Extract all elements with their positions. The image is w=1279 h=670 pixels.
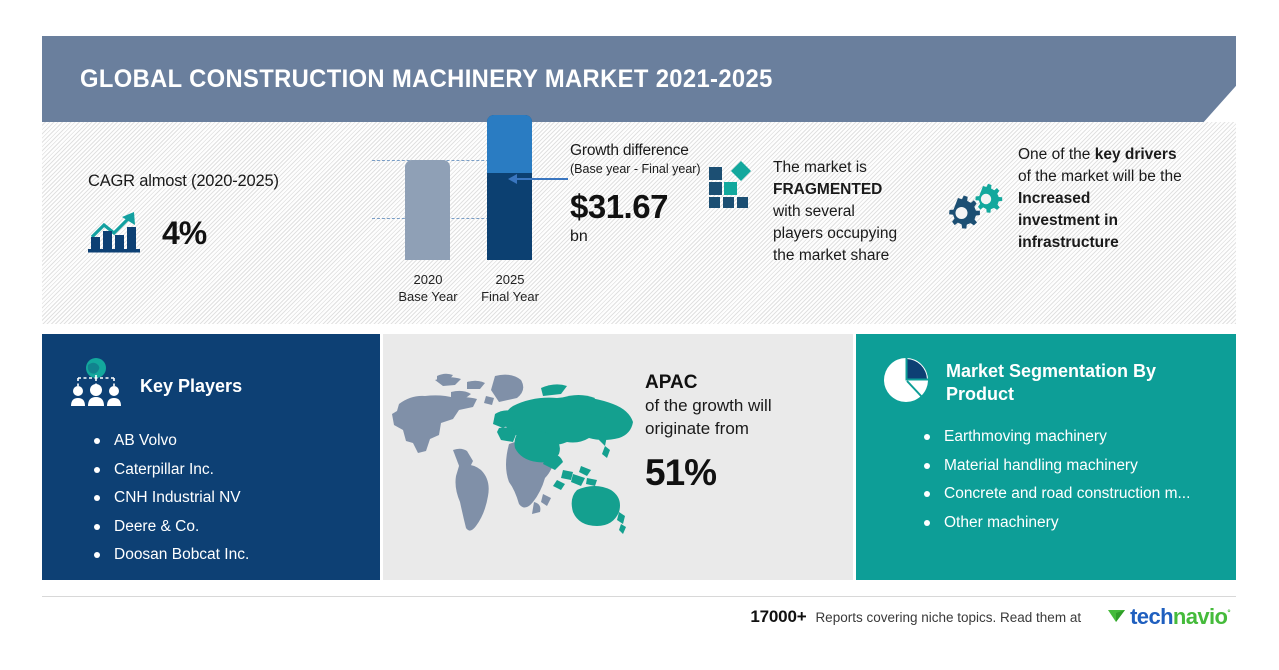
list-item: Concrete and road construction m... xyxy=(924,486,1236,502)
drivers-line-2: of the market will be the xyxy=(1018,166,1182,188)
key-drivers-text: One of the key drivers of the market wil… xyxy=(1018,144,1182,254)
bar-2025-caption: 2025 Final Year xyxy=(465,271,555,306)
drivers-line-4: investment in xyxy=(1018,212,1118,229)
segmentation-panel: Market Segmentation By Product Earthmovi… xyxy=(856,334,1236,580)
footer: 17000+ Reports covering niche topics. Re… xyxy=(42,597,1236,637)
bar-2025-role: Final Year xyxy=(465,288,555,306)
infographic-canvas: GLOBAL CONSTRUCTION MACHINERY MARKET 202… xyxy=(0,0,1279,670)
bar-2025-year: 2025 xyxy=(465,271,555,289)
fragmented-line-5: the market share xyxy=(773,245,897,267)
drivers-line-1: One of the xyxy=(1018,146,1095,163)
region-subtitle-line-2: originate from xyxy=(645,418,772,440)
bar-2020-role: Base Year xyxy=(383,288,473,306)
cagr-block: CAGR almost (2020-2025) 4% xyxy=(88,172,368,258)
key-players-title: Key Players xyxy=(140,375,242,398)
bar-chart-growth-icon xyxy=(88,209,142,258)
logo-text-navio: navio xyxy=(1173,604,1227,629)
page-title: GLOBAL CONSTRUCTION MACHINERY MARKET 202… xyxy=(42,65,773,94)
list-item: Material handling machinery xyxy=(924,458,1236,474)
cagr-value: 4% xyxy=(162,215,206,252)
drivers-line-1-bold: key drivers xyxy=(1095,146,1177,163)
key-players-header: Key Players xyxy=(42,334,380,417)
pie-chart-icon xyxy=(882,356,930,409)
list-item: CNH Industrial NV xyxy=(94,490,380,506)
gears-icon xyxy=(942,180,1004,237)
reports-count: 17000+ xyxy=(750,607,806,627)
bar-2020 xyxy=(405,160,450,260)
bar-2020-caption: 2020 Base Year xyxy=(383,271,473,306)
fragmented-line-3: with several xyxy=(773,201,897,223)
callout-arrow-icon xyxy=(508,174,568,184)
key-drivers-block: One of the key drivers of the market wil… xyxy=(942,144,1182,254)
globe-org-chart-icon xyxy=(68,356,124,417)
drivers-line-3: Increased xyxy=(1018,190,1090,207)
segmentation-list: Earthmoving machinery Material handling … xyxy=(924,429,1236,530)
list-item: Deere & Co. xyxy=(94,519,380,535)
stats-band: CAGR almost (2020-2025) 4% xyxy=(42,122,1236,324)
segmentation-title: Market Segmentation By Product xyxy=(946,360,1196,405)
bar-2020-year: 2020 xyxy=(383,271,473,289)
logo-text-tech: tech xyxy=(1130,604,1173,629)
key-players-list: AB Volvo Caterpillar Inc. CNH Industrial… xyxy=(94,433,380,563)
region-subtitle-line-1: of the growth will xyxy=(645,395,772,417)
bar-2025 xyxy=(487,115,532,260)
region-name: APAC xyxy=(645,372,772,394)
technavio-arrow-icon xyxy=(1107,605,1127,630)
list-item: Earthmoving machinery xyxy=(924,429,1236,445)
list-item: AB Volvo xyxy=(94,433,380,449)
bar-2025-growth-segment xyxy=(487,115,532,173)
segmentation-header: Market Segmentation By Product xyxy=(856,334,1236,409)
list-item: Caterpillar Inc. xyxy=(94,462,380,478)
growth-bar-chart: 2020 Base Year 2025 Final Year xyxy=(372,140,572,320)
header-banner: GLOBAL CONSTRUCTION MACHINERY MARKET 202… xyxy=(42,36,1236,122)
cagr-label: CAGR almost (2020-2025) xyxy=(88,172,368,191)
world-map xyxy=(391,370,639,540)
region-text: APAC of the growth will originate from 5… xyxy=(645,372,772,494)
region-share-value: 51% xyxy=(645,452,772,494)
fragmented-line-4: players occupying xyxy=(773,223,897,245)
region-panel: APAC of the growth will originate from 5… xyxy=(383,334,853,580)
technavio-logo[interactable]: technavio° xyxy=(1107,604,1230,630)
squares-diamond-icon xyxy=(707,157,759,214)
list-item: Doosan Bobcat Inc. xyxy=(94,547,380,563)
logo-trademark: ° xyxy=(1227,609,1230,618)
list-item: Other machinery xyxy=(924,515,1236,531)
fragmented-text: The market is FRAGMENTED with several pl… xyxy=(773,157,897,267)
fragmented-line-2: FRAGMENTED xyxy=(773,181,882,198)
footer-tagline: Reports covering niche topics. Read them… xyxy=(815,610,1081,625)
drivers-line-5: infrastructure xyxy=(1018,234,1119,251)
key-players-panel: Key Players AB Volvo Caterpillar Inc. CN… xyxy=(42,334,380,580)
fragmented-block: The market is FRAGMENTED with several pl… xyxy=(707,157,897,267)
fragmented-line-1: The market is xyxy=(773,157,897,179)
